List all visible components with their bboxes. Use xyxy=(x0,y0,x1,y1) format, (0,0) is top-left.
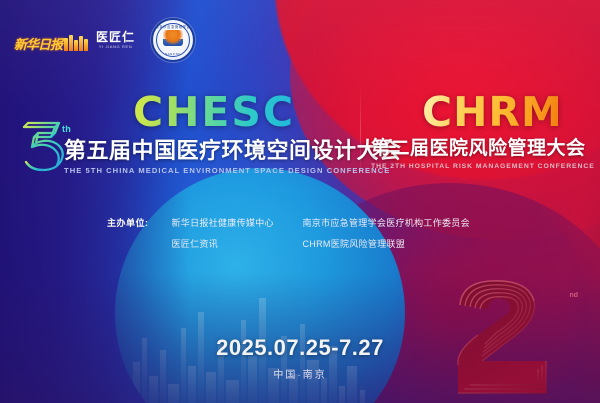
conference-poster: 新华日报 医匠仁 YI JIANG REN 南京市应急管理学会 NANJING xyxy=(0,0,600,403)
yijiangren-logo-cn: 医匠仁 xyxy=(96,31,135,43)
organizers-label: 主办单位: xyxy=(107,213,149,234)
event-location: 中国·南京 xyxy=(0,366,600,381)
seal-emblem-icon xyxy=(163,30,183,46)
right-conference-title: 第二届医院风险管理大会 THE 2TH HOSPITAL RISK MANAGE… xyxy=(371,139,600,170)
seal-base-text: NANJING xyxy=(153,52,193,56)
circular-seal-logo: 南京市应急管理学会 NANJING xyxy=(151,18,195,62)
xinhua-daily-logo-text: 新华日报 xyxy=(14,38,62,51)
event-date: 2025.07.25-7.27 xyxy=(0,335,600,360)
title-divider xyxy=(360,88,361,180)
xinhua-daily-logo-bars xyxy=(64,35,88,51)
right-title-en: THE 2TH HOSPITAL RISK MANAGEMENT CONFERE… xyxy=(371,163,600,170)
yijiangren-logo-en: YI JIANG REN xyxy=(96,45,135,49)
organizer-item: CHRM医院风险管理联盟 xyxy=(303,234,470,255)
chrm-wordmark: CHRM xyxy=(422,92,563,133)
organizers-block: 主办单位: 新华日报社健康传媒中心 医匠仁资讯 南京市应急管理学会医疗机构工作委… xyxy=(107,213,470,255)
organizer-item: 医匠仁资讯 xyxy=(172,234,303,255)
left-title-en: THE 5TH CHINA MEDICAL ENVIRONMENT SPACE … xyxy=(64,166,364,175)
yijiangren-logo: 医匠仁 YI JIANG REN xyxy=(96,31,135,49)
event-date-block: 2025.07.25-7.27 中国·南京 xyxy=(0,335,600,381)
ordinal-five-suffix: th xyxy=(62,124,71,134)
chesc-wordmark: CHESC xyxy=(133,92,295,133)
left-title-cn: 第五届中国医疗环境空间设计大会 xyxy=(64,139,364,162)
xinhua-daily-logo: 新华日报 xyxy=(14,29,80,51)
organizers-column-1: 新华日报社健康传媒中心 医匠仁资讯 xyxy=(172,213,303,255)
decorative-ribbon-two-suffix: nd xyxy=(569,292,578,299)
right-title-cn: 第二届医院风险管理大会 xyxy=(371,139,600,159)
sponsor-logo-row: 新华日报 医匠仁 YI JIANG REN 南京市应急管理学会 NANJING xyxy=(14,18,195,62)
organizer-item: 新华日报社健康传媒中心 xyxy=(172,213,303,234)
organizer-item: 南京市应急管理学会医疗机构工作委员会 xyxy=(303,213,470,234)
left-conference-title: 第五届中国医疗环境空间设计大会 THE 5TH CHINA MEDICAL EN… xyxy=(64,139,364,175)
organizers-column-2: 南京市应急管理学会医疗机构工作委员会 CHRM医院风险管理联盟 xyxy=(303,213,470,255)
seal-arc-text: 南京市应急管理学会 xyxy=(153,24,193,29)
